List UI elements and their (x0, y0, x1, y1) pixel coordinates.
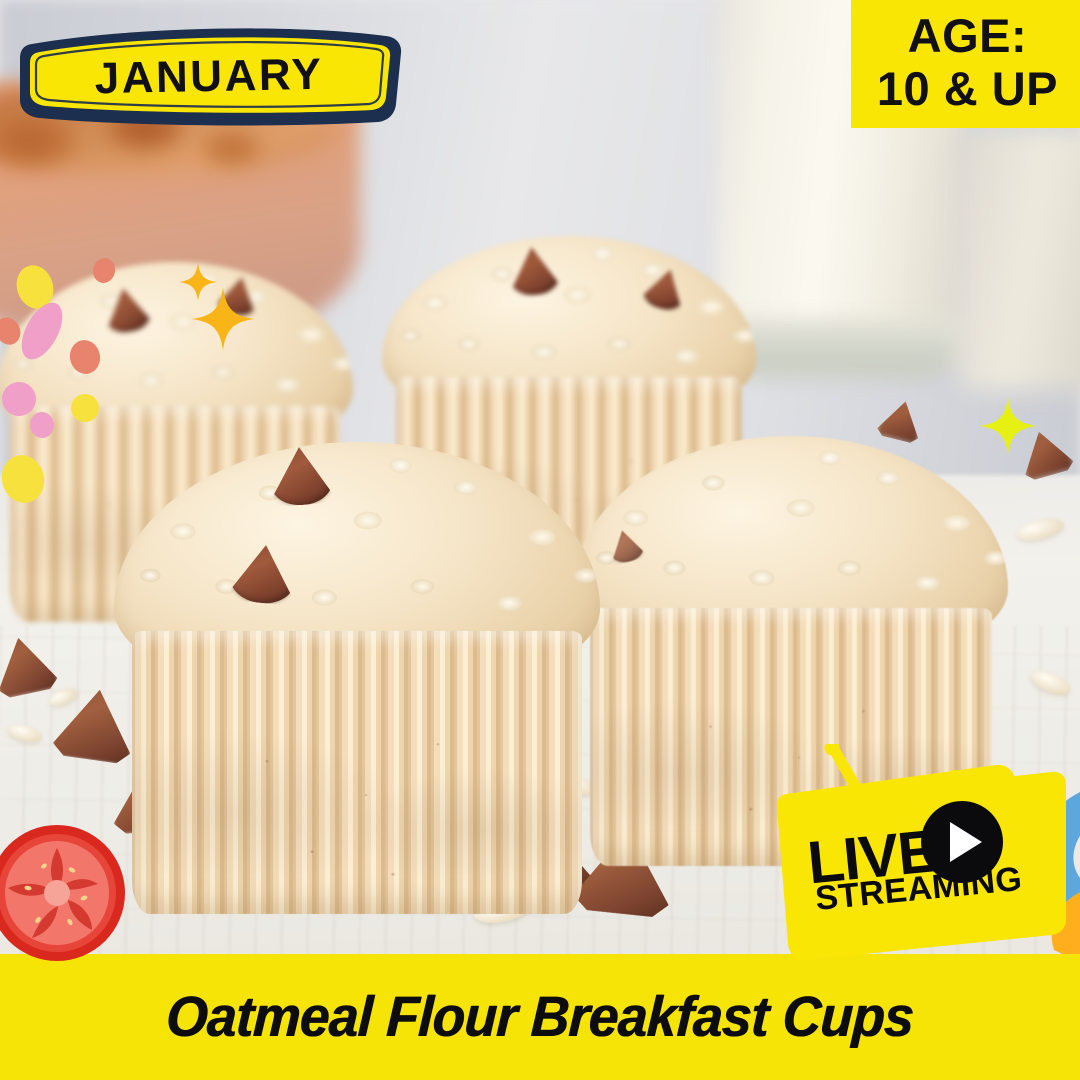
chocolate-chip (639, 264, 690, 314)
live-streaming-badge[interactable]: LIVE STREAMING (766, 744, 1066, 974)
tomato-slice-sticker (0, 822, 128, 964)
age-badge[interactable]: AGE: 10 & UP (851, 0, 1080, 128)
background-glass (958, 130, 1080, 390)
age-badge-line1: AGE: (877, 12, 1058, 59)
chocolate-chip (268, 445, 334, 507)
recipe-promo-poster: JANUARY AGE: 10 & UP LIVE STREAM (0, 0, 1080, 1080)
sparkle-chartreuse-icon (978, 396, 1038, 456)
breakfast-cup-front-left (132, 442, 582, 914)
sparkle-amber-large-icon (190, 286, 256, 352)
tv-shape (766, 744, 1066, 974)
chocolate-chip (100, 285, 153, 336)
month-badge[interactable]: JANUARY (14, 22, 404, 128)
recipe-title: Oatmeal Flour Breakfast Cups (165, 984, 915, 1050)
age-badge-line2: 10 & UP (877, 65, 1058, 112)
chocolate-chip (228, 542, 298, 606)
month-badge-label: JANUARY (13, 20, 405, 133)
muffin-paper-liner (132, 631, 582, 914)
play-button-icon (921, 801, 1003, 883)
chocolate-chip (507, 244, 562, 297)
chocolate-chip (605, 526, 646, 565)
